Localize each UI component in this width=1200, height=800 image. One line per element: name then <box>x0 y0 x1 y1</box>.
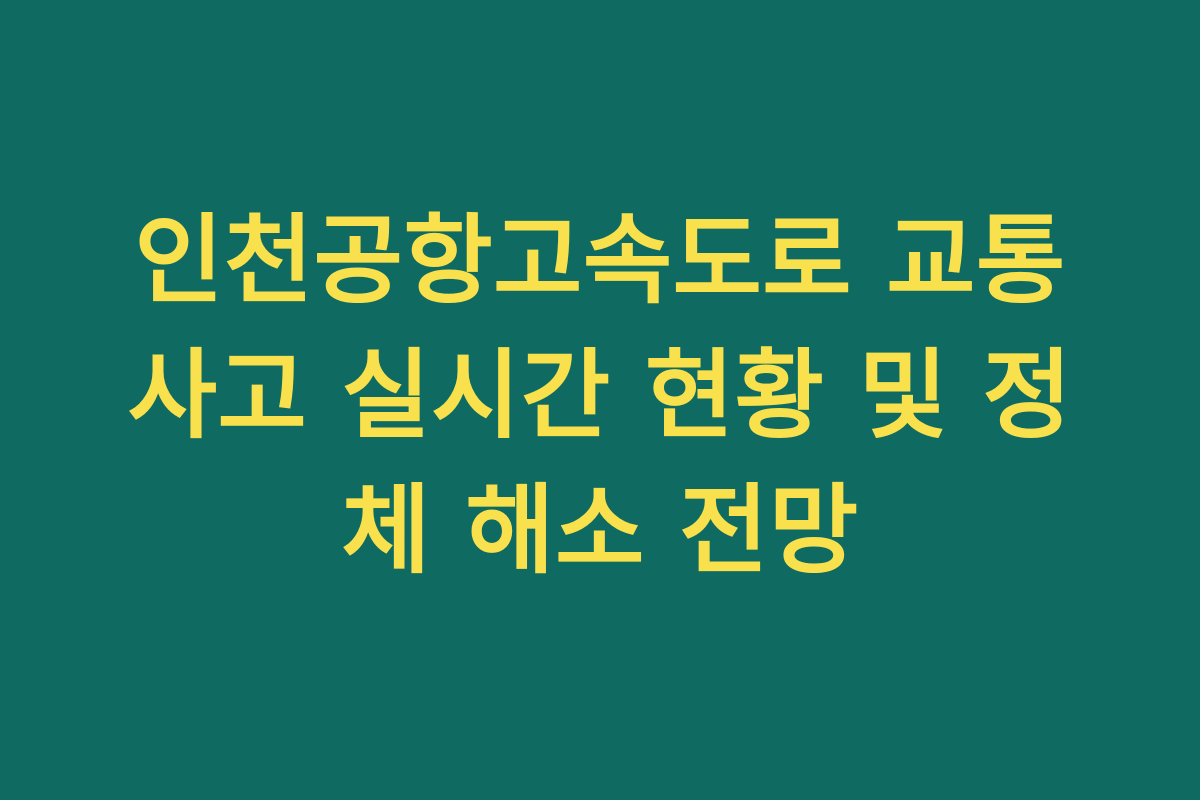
headline-line-1: 인천공항고속도로 교통 <box>100 193 1100 328</box>
headline-line-2: 사고 실시간 현황 및 정 <box>100 328 1100 463</box>
headline-block: 인천공항고속도로 교통 사고 실시간 현황 및 정 체 해소 전망 <box>100 193 1100 608</box>
headline-line-3: 체 해소 전망 <box>100 463 1100 598</box>
text-card: 인천공항고속도로 교통 사고 실시간 현황 및 정 체 해소 전망 <box>0 0 1200 800</box>
